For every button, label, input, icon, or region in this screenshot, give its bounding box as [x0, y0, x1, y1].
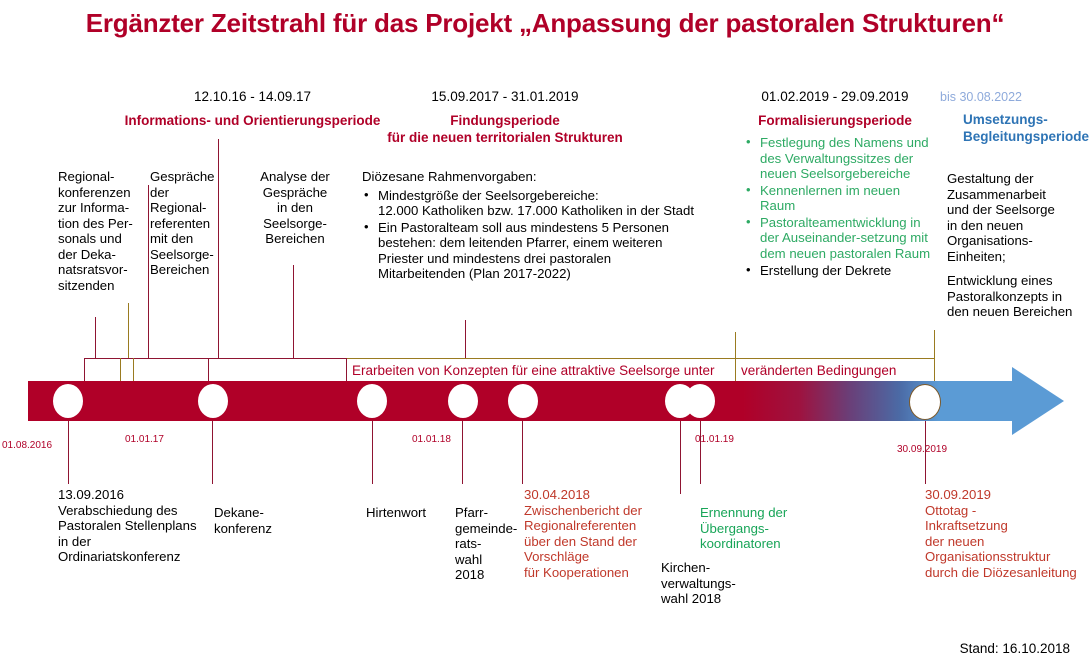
findung-block: Diözesane Rahmenvorgaben: Mindestgröße d…	[362, 169, 722, 283]
period-name-findungs-line2: für die neuen territorialen Strukturen	[355, 130, 655, 146]
event-zwischenbericht-date: 30.04.2018	[524, 487, 659, 503]
event-zwischenbericht-text: Zwischenbericht der Regionalreferenten ü…	[524, 503, 659, 581]
umsetzung-green-text: Entwicklung eines Pastoralkonzepts in de…	[947, 273, 1089, 320]
leader-stellenplan	[68, 421, 69, 484]
period-name-umsetzungs-line2: Begleitungsperiode	[963, 129, 1088, 145]
period-range-informations: 12.10.16 - 14.09.17	[110, 89, 395, 104]
event-stellenplan: 13.09.2016 Verabschiedung des Pastoralen…	[58, 487, 223, 565]
formalisierung-bullet-3: Pastoralteamentwicklung in der Auseinand…	[744, 215, 934, 262]
band-label-left: Erarbeiten von Konzepten für eine attrak…	[352, 363, 714, 378]
timeline-diagram: Ergänzter Zeitstrahl für das Projekt „An…	[0, 0, 1090, 668]
event-pfarrgemeinderatswahl: Pfarr- gemeinde- rats- wahl 2018	[455, 505, 523, 583]
bracket-drop-7	[934, 358, 935, 381]
leader-hirtenwort	[372, 421, 373, 484]
period-name-findungs-line1: Findungsperiode	[360, 113, 650, 129]
riser-gespraeche	[128, 303, 129, 358]
bracket-drop-5	[346, 358, 347, 381]
formalisierung-bullet-1: Festlegung des Namens und des Verwaltung…	[744, 135, 934, 182]
bracket-drop-4	[208, 358, 209, 381]
timeline-node-4[interactable]	[448, 384, 478, 418]
leader-uebergangskoordinatoren	[680, 421, 681, 494]
formalisierung-bullet-2: Kennenlernen im neuen Raum	[744, 183, 934, 214]
period-name-formalisierungs: Formalisierungsperiode	[740, 113, 930, 129]
timeline-node-5[interactable]	[508, 384, 538, 418]
findung-bullet-2: Ein Pastoralteam soll aus mindestens 5 P…	[362, 220, 722, 282]
column-regionalkonferenzen: Regional- konferenzen zur Informa- tion …	[58, 169, 144, 294]
riser-analyse	[293, 265, 294, 358]
timeline-node-2[interactable]	[198, 384, 228, 418]
axis-date-2: 01.01.18	[412, 434, 451, 445]
event-ottotag: 30.09.2019 Ottotag - Inkraftsetzung der …	[925, 487, 1090, 580]
bracket-drop-2	[120, 358, 121, 381]
formalisierung-block: Festlegung des Namens und des Verwaltung…	[744, 135, 934, 279]
event-stellenplan-date: 13.09.2016	[58, 487, 223, 503]
period-range-umsetzungs: bis 30.08.2022	[940, 90, 1085, 104]
timeline-node-7[interactable]	[685, 384, 715, 418]
riser-divider-2	[218, 139, 219, 358]
band-label-right: veränderten Bedingungen	[741, 363, 896, 378]
leader-dekanekonferenz	[212, 421, 213, 484]
period-range-formalisierungs: 01.02.2019 - 29.09.2019	[740, 89, 930, 104]
timeline-node-1[interactable]	[53, 384, 83, 418]
leader-zwischenbericht	[522, 421, 523, 484]
riser-regionalkonferenzen	[95, 317, 96, 358]
riser-findung	[465, 320, 466, 358]
leader-ottotag	[925, 421, 926, 484]
findung-bullet-1: Mindestgröße der Seelsorgebereiche: 12.0…	[362, 188, 722, 219]
period-name-umsetzungs-line1: Umsetzungs-	[963, 112, 1088, 128]
event-ottotag-date: 30.09.2019	[925, 487, 1090, 503]
riser-divider-1	[148, 185, 149, 358]
page-title: Ergänzter Zeitstrahl für das Projekt „An…	[0, 8, 1090, 39]
event-hirtenwort: Hirtenwort	[366, 505, 451, 521]
bracket-drop-1	[84, 358, 85, 381]
bracket-line-left	[84, 358, 346, 359]
timeline-node-3[interactable]	[357, 384, 387, 418]
axis-date-4: 30.09.2019	[897, 444, 947, 455]
riser-umsetzung	[934, 330, 935, 358]
timeline-node-8[interactable]	[909, 384, 941, 420]
event-ottotag-text: Ottotag - Inkraftsetzung der neuen Organ…	[925, 503, 1090, 581]
event-dekanekonferenz: Dekane- konferenz	[214, 505, 304, 536]
bracket-drop-3	[133, 358, 134, 381]
column-analyse: Analyse der Gespräche in den Seelsorge- …	[245, 169, 345, 247]
bracket-line-right	[346, 358, 935, 359]
axis-date-1: 01.01.17	[125, 434, 164, 445]
axis-date-0: 01.08.2016	[2, 440, 52, 451]
formalisierung-bullet-4: Erstellung der Dekrete	[744, 263, 934, 279]
event-stellenplan-text: Verabschiedung des Pastoralen Stellenpla…	[58, 503, 223, 565]
riser-formalisierung	[735, 332, 736, 358]
leader-pfarrgemeinderatswahl	[462, 421, 463, 484]
timeline-arrowhead	[1012, 367, 1064, 435]
stand-footer: Stand: 16.10.2018	[960, 641, 1070, 656]
event-uebergangskoordinatoren: Ernennung der Übergangs- koordinatoren	[700, 505, 815, 552]
bracket-drop-6	[735, 358, 736, 381]
umsetzung-black-text: Gestaltung der Zusammenarbeit und der Se…	[947, 171, 1089, 264]
event-zwischenbericht: 30.04.2018 Zwischenbericht der Regionalr…	[524, 487, 659, 580]
leader-kirchenverwaltungswahl	[700, 421, 701, 484]
period-range-findungs: 15.09.2017 - 31.01.2019	[360, 89, 650, 104]
event-kirchenverwaltungswahl: Kirchen- verwaltungs- wahl 2018	[661, 560, 761, 607]
findung-intro: Diözesane Rahmenvorgaben:	[362, 169, 722, 185]
